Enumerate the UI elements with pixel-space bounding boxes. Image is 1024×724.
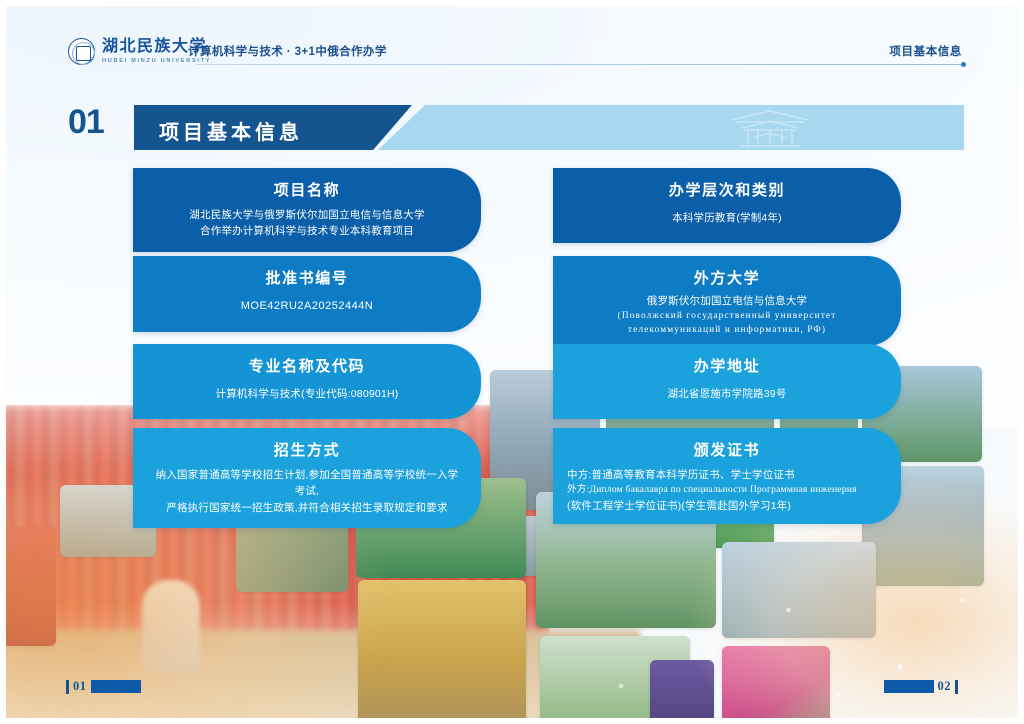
card-admission-method[interactable]: 招生方式 纳入国家普通高等学校招生计划,参加全国普通高等学校统一入学考试, 严格… (133, 428, 481, 528)
sparkle-overlay (404, 534, 1024, 724)
card-project-name[interactable]: 项目名称 湖北民族大学与俄罗斯伏尔加国立电信与信息大学 合作举办计算机科学与技术… (133, 168, 481, 252)
header-subtitle: 计算机科学与技术 · 3+1中俄合作办学 (188, 43, 387, 59)
page-number-left-value: 01 (73, 679, 87, 694)
page-tick-icon (66, 680, 69, 694)
card-line: 纳入国家普通高等学校招生计划,参加全国普通高等学校统一入学考试, (153, 467, 461, 500)
header-end-dot-icon (961, 62, 966, 67)
card-line-russian: 外方:Диплом бакалавра по специальности Про… (567, 483, 887, 497)
card-major-name-code[interactable]: 专业名称及代码 计算机科学与技术(专业代码:080901H) (133, 344, 481, 419)
card-line: (软件工程学士学位证书)(学生需赴国外学习1年) (567, 498, 887, 514)
card-line: 计算机科学与技术(专业代码:080901H) (153, 383, 461, 407)
card-title: 颁发证书 (567, 439, 887, 460)
card-title: 招生方式 (153, 439, 461, 460)
card-title: 办学层次和类别 (573, 179, 881, 200)
card-line: 湖北省恩施市学院路39号 (573, 383, 881, 407)
section-number: 01 (68, 103, 104, 142)
section-title: 项目基本信息 (159, 116, 303, 145)
slide-page: 湖北民族大学 HUBEI MINZU UNIVERSITY 计算机科学与技术 ·… (0, 0, 1024, 724)
card-line-russian: телекоммуникаций и информатики, РФ) (573, 323, 881, 337)
page-bar-left (91, 680, 141, 693)
banner-light-shape (378, 105, 964, 150)
page-header: 湖北民族大学 HUBEI MINZU UNIVERSITY 计算机科学与技术 ·… (0, 0, 1024, 82)
card-foreign-university[interactable]: 外方大学 俄罗斯伏尔加国立电信与信息大学 (Поволжский государ… (553, 256, 901, 346)
card-line: 严格执行国家统一招生政策,并符合相关招生录取规定和要求 (153, 500, 461, 516)
page-bar-right (884, 680, 934, 693)
gate-archway-icon (724, 108, 816, 148)
card-title: 批准书编号 (153, 267, 461, 288)
card-title: 项目名称 (153, 179, 461, 200)
card-campus-address[interactable]: 办学地址 湖北省恩施市学院路39号 (553, 344, 901, 419)
card-line: 俄罗斯伏尔加国立电信与信息大学 (573, 293, 881, 309)
card-line: MOE42RU2A20252444N (153, 295, 461, 320)
card-approval-number[interactable]: 批准书编号 MOE42RU2A20252444N (133, 256, 481, 332)
card-line-russian: (Поволжский государственный университет (573, 309, 881, 323)
card-title: 外方大学 (573, 267, 881, 288)
university-seal-icon (68, 38, 95, 65)
header-divider (196, 64, 964, 65)
page-number-right: 02 (884, 679, 959, 694)
header-section-label: 项目基本信息 (889, 43, 962, 59)
card-title: 办学地址 (573, 355, 881, 376)
card-line: 本科学历教育(学制4年) (573, 207, 881, 231)
page-tick-icon (955, 680, 958, 694)
card-line: 中方:普通高等教育本科学历证书、学士学位证书 (567, 467, 887, 483)
page-number-left: 01 (66, 679, 141, 694)
card-line: 合作举办计算机科学与技术专业本科教育项目 (153, 223, 461, 239)
card-line: 湖北民族大学与俄罗斯伏尔加国立电信与信息大学 (153, 207, 461, 223)
card-education-level-type[interactable]: 办学层次和类别 本科学历教育(学制4年) (553, 168, 901, 243)
section-banner: 01 项目基本信息 (62, 105, 964, 150)
card-certificates-awarded[interactable]: 颁发证书 中方:普通高等教育本科学历证书、学士学位证书 外方:Диплом ба… (553, 428, 901, 524)
page-number-right-value: 02 (938, 679, 952, 694)
card-title: 专业名称及代码 (153, 355, 461, 376)
